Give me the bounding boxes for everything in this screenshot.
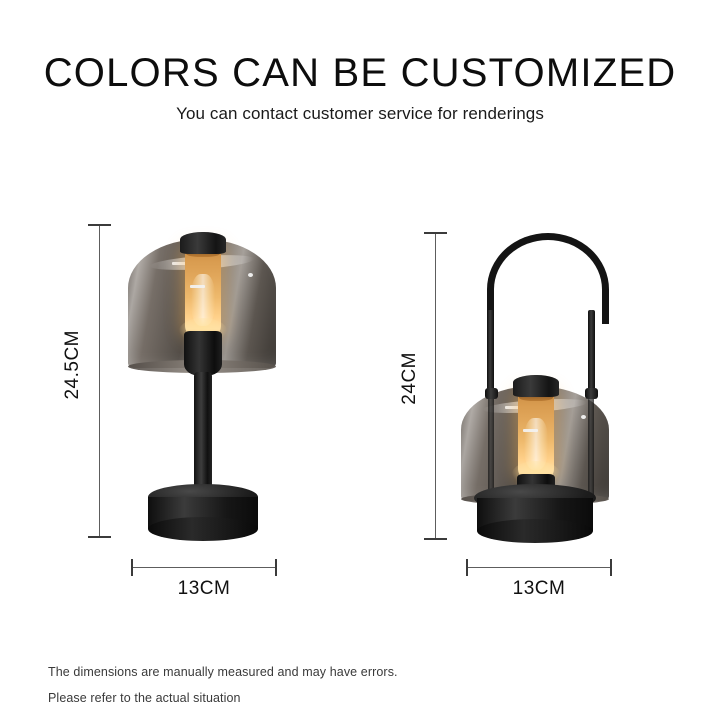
bulb-highlight xyxy=(190,285,205,288)
bulb-highlight xyxy=(523,429,538,432)
lamp-handle-joint-right xyxy=(585,388,598,399)
lamp-base-bottom xyxy=(477,519,593,543)
dimension-line-height-right xyxy=(435,232,436,540)
lamp-handle-joint-left xyxy=(485,388,498,399)
dimension-label-height-left: 24.5CM xyxy=(62,330,84,400)
lamp-socket-collar xyxy=(184,331,222,376)
lamp-handle-post-right-through-glass xyxy=(588,392,594,496)
lamp-handle-post-left xyxy=(487,310,494,394)
disclaimer-line-1: The dimensions are manually measured and… xyxy=(48,665,398,679)
lamp-base-bottom xyxy=(148,517,258,541)
page-title: COLORS CAN BE CUSTOMIZED xyxy=(0,51,720,96)
dimension-label-height-right: 24CM xyxy=(399,352,421,405)
lamp-top-cap xyxy=(513,375,559,397)
dimension-line-width-left xyxy=(131,567,277,568)
lamp-stem xyxy=(194,372,212,496)
lamp-handle-post-right xyxy=(588,310,595,394)
page-subtitle: You can contact customer service for ren… xyxy=(0,104,720,124)
disclaimer-line-2: Please refer to the actual situation xyxy=(48,691,241,705)
dimension-label-width-right: 13CM xyxy=(466,578,612,600)
lamp-top-cap xyxy=(180,232,226,254)
shade-dot-highlight xyxy=(248,273,253,277)
shade-dot-highlight xyxy=(581,415,586,419)
lamp-handle-post-left-through-glass xyxy=(488,392,494,496)
dimension-line-width-right xyxy=(466,567,612,568)
dimension-label-width-left: 13CM xyxy=(131,578,277,600)
dimension-line-height-left xyxy=(99,224,100,538)
